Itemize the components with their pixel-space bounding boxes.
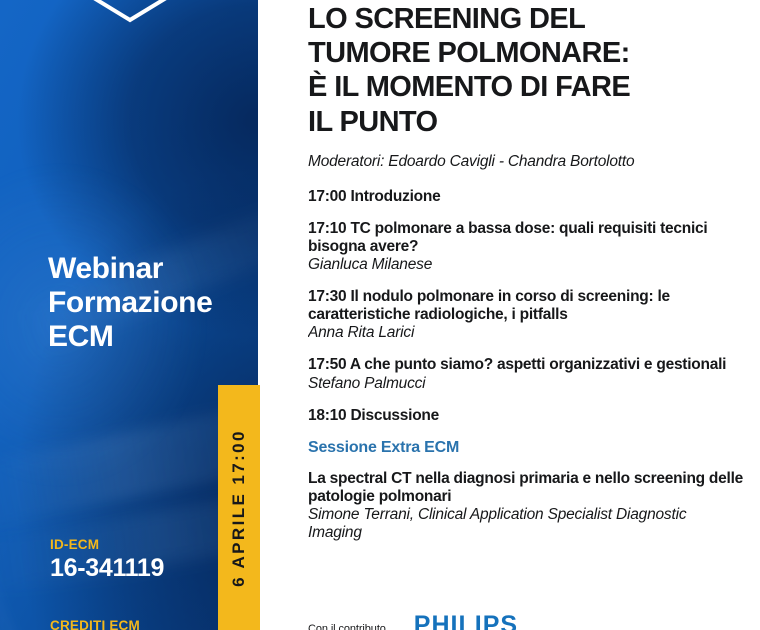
main-content: LO SCREENING DEL TUMORE POLMONARE: È IL … [308, 0, 744, 630]
agenda-item: 17:50 A che punto siamo? aspetti organiz… [308, 356, 744, 392]
date-badge-text: 6 APRILE 17:00 [229, 429, 249, 587]
agenda-item-speaker: Stefano Palmucci [308, 375, 744, 393]
agenda-item: 17:00 Introduzione [308, 188, 744, 206]
agenda-item-title: 17:50 A che punto siamo? aspetti organiz… [308, 356, 744, 374]
id-ecm-block: ID-ECM 16-341119 [50, 537, 164, 583]
date-badge-rotator: 6 APRILE 17:00 [218, 385, 260, 630]
extra-session-title: La spectral CT nella diagnosi primaria e… [308, 470, 744, 506]
philips-logo: PHILIPS [414, 614, 518, 630]
panel-heading-line-2: Formazione [48, 286, 212, 320]
panel-heading-line-3: ECM [48, 320, 212, 354]
agenda-item: 18:10 Discussione [308, 407, 744, 425]
agenda-item: 17:30 Il nodulo polmonare in corso di sc… [308, 288, 744, 342]
moderators-line: Moderatori: Edoardo Cavigli - Chandra Bo… [308, 153, 744, 171]
page-title-line-1: LO SCREENING DEL [308, 3, 585, 35]
panel-heading-line-1: Webinar [48, 252, 212, 286]
panel-heading: Webinar Formazione ECM [48, 252, 212, 355]
agenda-item-speaker: Gianluca Milanese [308, 256, 744, 274]
extra-session-item: La spectral CT nella diagnosi primaria e… [308, 470, 744, 542]
agenda-item-speaker: Anna Rita Larici [308, 324, 744, 342]
agenda-item-title: 17:00 Introduzione [308, 188, 744, 206]
page-title-line-4: IL PUNTO [308, 106, 437, 138]
date-badge-bar: 6 APRILE 17:00 [218, 385, 260, 630]
agenda-item: 17:10 TC polmonare a bassa dose: quali r… [308, 220, 744, 274]
sponsor-label: Con il contributo [308, 623, 386, 630]
agenda-list: 17:00 Introduzione 17:10 TC polmonare a … [308, 188, 744, 425]
extra-session-speaker: Simone Terrani, Clinical Application Spe… [308, 506, 744, 542]
id-ecm-label: ID-ECM [50, 537, 164, 552]
extra-session-heading: Sessione Extra ECM [308, 439, 744, 457]
agenda-item-title: 18:10 Discussione [308, 407, 744, 425]
id-ecm-value: 16-341119 [50, 554, 164, 583]
crediti-ecm-label: CREDITI ECM [50, 618, 140, 630]
ecm-shield-logo-icon [78, 0, 182, 24]
page-title-line-3: È IL MOMENTO DI FARE [308, 71, 630, 103]
agenda-item-title: 17:10 TC polmonare a bassa dose: quali r… [308, 220, 744, 256]
agenda-item-title: 17:30 Il nodulo polmonare in corso di sc… [308, 288, 744, 324]
sponsor-row: Con il contributo PHILIPS [308, 614, 518, 630]
page-title: LO SCREENING DEL TUMORE POLMONARE: È IL … [308, 0, 744, 139]
page-title-line-2: TUMORE POLMONARE: [308, 37, 630, 69]
